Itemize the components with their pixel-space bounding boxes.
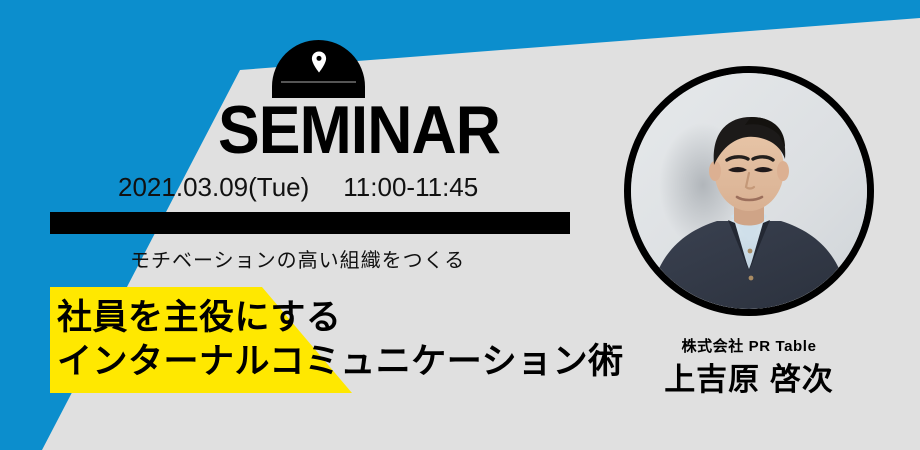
page-title: 社員を主役にする インターナルコミュニケーション術 (57, 296, 624, 384)
seminar-banner: SEMINAR 2021.03.09(Tue) 11:00-11:45 モチベー… (0, 0, 920, 450)
speaker-info: 株式会社 PR Table 上吉原 啓次 (624, 338, 874, 398)
avatar-clip (631, 73, 867, 309)
speaker-company: 株式会社 PR Table (624, 338, 874, 356)
speaker-photo (631, 73, 867, 309)
title-line-2: インターナルコミュニケーション術 (57, 340, 624, 384)
title-line-1: 社員を主役にする (57, 296, 624, 340)
speaker-avatar (624, 66, 874, 316)
speaker-name: 上吉原 啓次 (624, 362, 874, 398)
